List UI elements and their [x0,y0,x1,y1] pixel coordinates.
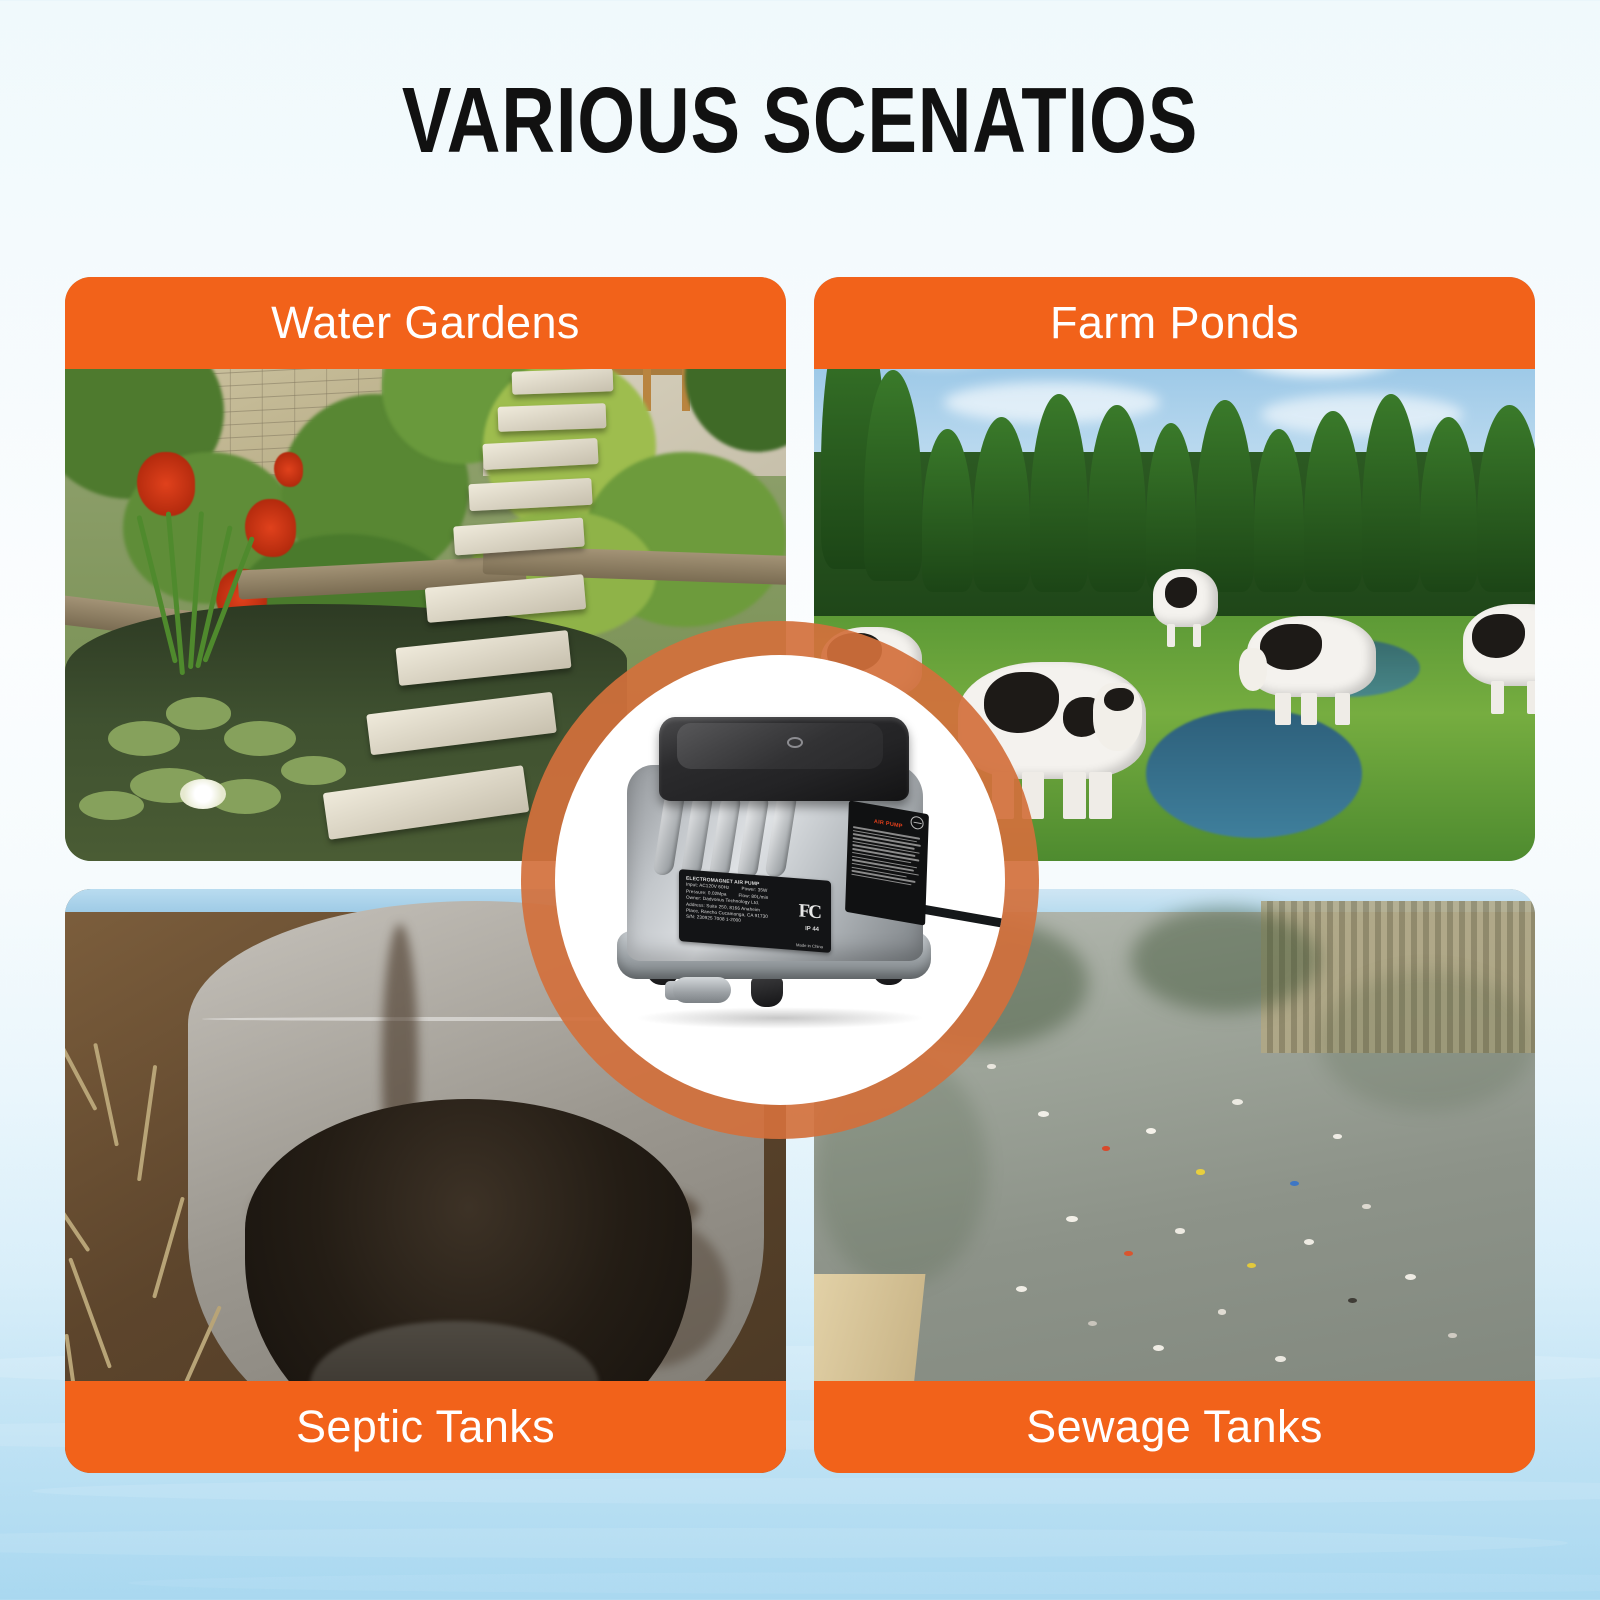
air-outlet-nozzle [673,977,731,1003]
warning-label: AIR PUMP [845,800,929,925]
cover-screw-icon [787,737,803,748]
card-label-farm-ponds: Farm Ponds [814,277,1535,369]
card-label-text: Farm Ponds [1050,297,1299,349]
pump-top-cover-face [677,723,883,769]
page-title: VARIOUS SCENATIOS [160,72,1440,170]
cooling-fins [659,791,809,879]
spec-ip-rating: IP 44 [805,926,819,933]
card-label-text: Sewage Tanks [1026,1401,1323,1453]
air-pump-product-image: ELECTROMAGNET AIR PUMP Input: AC120V 60H… [555,655,1005,1105]
product-image-clip: ELECTROMAGNET AIR PUMP Input: AC120V 60H… [555,655,1005,1105]
pump-top-cover [659,717,909,801]
card-label-text: Water Gardens [271,297,580,349]
product-highlight-circle: ELECTROMAGNET AIR PUMP Input: AC120V 60H… [521,621,1039,1139]
rubber-foot [751,977,783,1007]
spec-label: ELECTROMAGNET AIR PUMP Input: AC120V 60H… [679,869,831,953]
card-label-sewage-tanks: Sewage Tanks [814,1381,1535,1473]
product-shadow [635,1007,925,1029]
warning-text-lines [851,826,923,887]
card-label-water-gardens: Water Gardens [65,277,786,369]
card-label-text: Septic Tanks [296,1401,555,1453]
wave-line [0,1528,1568,1558]
spec-origin: Made in China [796,942,823,949]
wave-line [32,1478,1600,1504]
wave-line [128,1572,1600,1594]
card-label-septic-tanks: Septic Tanks [65,1381,786,1473]
fcc-logo-icon: FC [799,900,820,924]
